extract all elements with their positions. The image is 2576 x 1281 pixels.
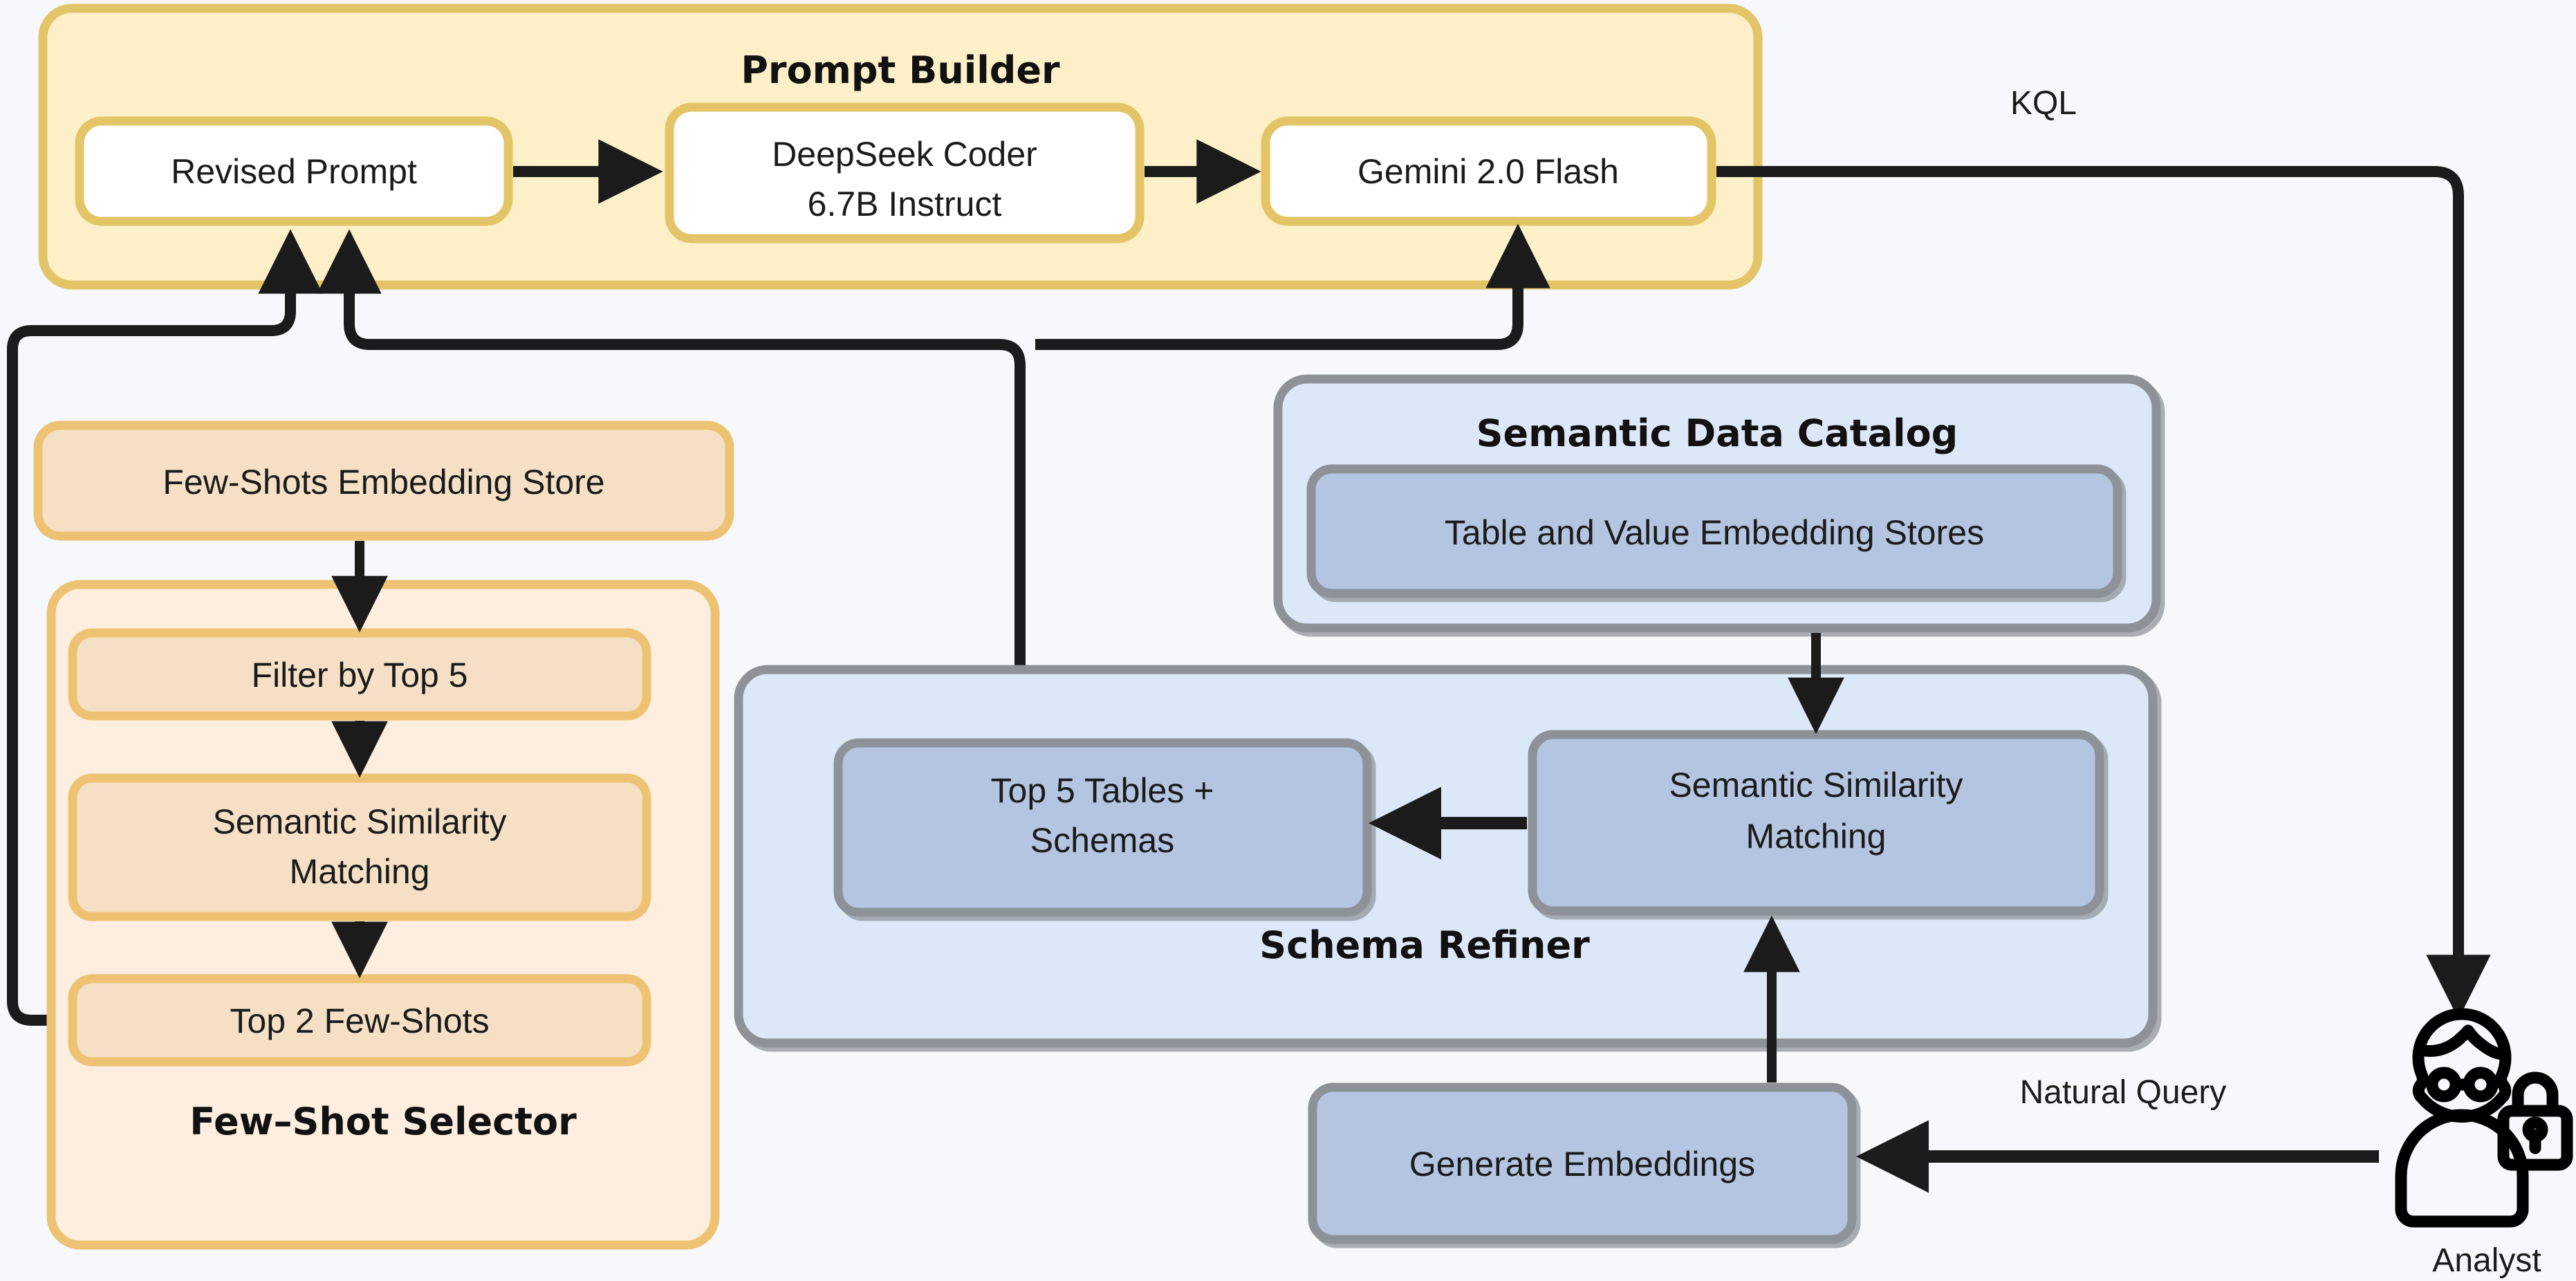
fss-similarity-box[interactable] xyxy=(73,778,647,916)
fss-similarity-label-line1: Semantic Similarity xyxy=(212,802,506,841)
top5-tables-label-line2: Schemas xyxy=(1030,821,1174,860)
generate-embeddings-label: Generate Embeddings xyxy=(1409,1145,1755,1183)
node-filter-by-top5[interactable]: Filter by Top 5 xyxy=(73,633,647,716)
edge-label-kql: KQL xyxy=(2010,85,2077,122)
top5-tables-label-line1: Top 5 Tables + xyxy=(991,771,1214,810)
deepseek-coder-label-line1: DeepSeek Coder xyxy=(772,135,1037,174)
gemini-flash-label: Gemini 2.0 Flash xyxy=(1358,152,1619,191)
edge-label-natural-query: Natural Query xyxy=(2020,1074,2227,1111)
table-value-store-label: Table and Value Embedding Stores xyxy=(1445,513,1984,552)
node-top5-tables-schemas[interactable]: Top 5 Tables + Schemas xyxy=(838,743,1367,912)
node-gemini-flash[interactable]: Gemini 2.0 Flash xyxy=(1266,121,1712,221)
node-revised-prompt[interactable]: Revised Prompt xyxy=(80,121,508,221)
few-shot-selector-title: Few–Shot Selector xyxy=(189,1100,577,1143)
revised-prompt-label: Revised Prompt xyxy=(171,152,417,191)
few-shots-store-label: Few-Shots Embedding Store xyxy=(163,463,604,501)
schema-refiner-title: Schema Refiner xyxy=(1259,923,1590,967)
node-table-value-embedding-stores[interactable]: Table and Value Embedding Stores xyxy=(1311,469,2118,593)
prompt-builder-title: Prompt Builder xyxy=(741,48,1060,92)
node-generate-embeddings[interactable]: Generate Embeddings xyxy=(1313,1087,1852,1239)
node-fss-semantic-similarity-matching[interactable]: Semantic Similarity Matching xyxy=(73,778,647,916)
node-deepseek-coder[interactable]: DeepSeek Coder 6.7B Instruct xyxy=(669,107,1140,239)
node-top2-few-shots[interactable]: Top 2 Few-Shots xyxy=(73,979,647,1062)
architecture-diagram: Prompt Builder Revised Prompt DeepSeek C… xyxy=(0,0,2576,1281)
sr-similarity-label-line1: Semantic Similarity xyxy=(1669,766,1963,804)
top2-few-shots-label: Top 2 Few-Shots xyxy=(230,1002,489,1040)
diagram-canvas: Prompt Builder Revised Prompt DeepSeek C… xyxy=(0,0,2576,1281)
node-few-shots-embedding-store[interactable]: Few-Shots Embedding Store xyxy=(38,425,730,536)
sr-similarity-label-line2: Matching xyxy=(1746,817,1887,856)
deepseek-coder-label-line2: 6.7B Instruct xyxy=(808,185,1002,223)
semantic-data-catalog-title: Semantic Data Catalog xyxy=(1476,412,1958,455)
actor-analyst[interactable]: Analyst xyxy=(2401,1014,2567,1279)
node-sr-semantic-similarity-matching[interactable]: Semantic Similarity Matching xyxy=(1532,735,2100,911)
analyst-label: Analyst xyxy=(2432,1242,2541,1279)
person-with-lock-icon xyxy=(2401,1014,2567,1222)
fss-similarity-label-line2: Matching xyxy=(290,852,430,891)
filter-top5-label: Filter by Top 5 xyxy=(251,656,467,694)
